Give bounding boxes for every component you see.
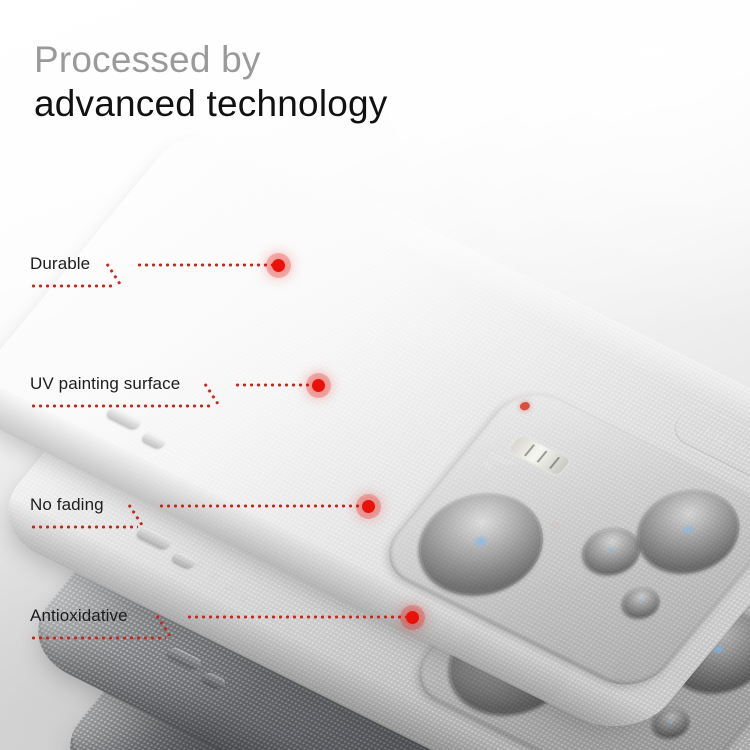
heading-line-2: advanced technology <box>34 82 388 126</box>
callout-label-no-fading: No fading <box>30 495 104 515</box>
camera-lens-macro <box>615 582 668 624</box>
callout-label-durable: Durable <box>30 254 90 274</box>
callout-marker-uv-painting-surface[interactable] <box>312 379 325 392</box>
led-flash-icon <box>508 435 571 476</box>
callout-underline-no-fading <box>30 525 138 529</box>
callout-leader-line-no-fading <box>158 504 362 508</box>
callout-label-antioxidative: Antioxidative <box>30 606 128 626</box>
heading-line-1: Processed by <box>34 38 388 82</box>
callout-marker-no-fading[interactable] <box>362 500 375 513</box>
callout-underline-uv-painting-surface <box>30 404 214 408</box>
callout-underline-durable <box>30 284 116 288</box>
camera-lens-wide <box>617 475 750 589</box>
callout-leader-line-antioxidative <box>186 615 406 619</box>
callout-leader-line-durable <box>136 263 274 267</box>
callout-marker-durable[interactable] <box>272 259 285 272</box>
camera-microtext: 50MPAI <box>480 450 516 477</box>
callout-label-uv-painting-surface: UV painting surface <box>30 374 180 394</box>
page-title: Processed by advanced technology <box>34 38 388 126</box>
product-image-canvas: NILLKIN50MPAINILLKIN50MPAINILLKIN50MPAIN… <box>0 0 750 750</box>
callout-leader-line-uv-painting-surface <box>234 383 312 387</box>
callout-marker-antioxidative[interactable] <box>406 611 419 624</box>
camera-accent-dot <box>518 401 532 412</box>
callout-underline-antioxidative <box>30 636 166 640</box>
